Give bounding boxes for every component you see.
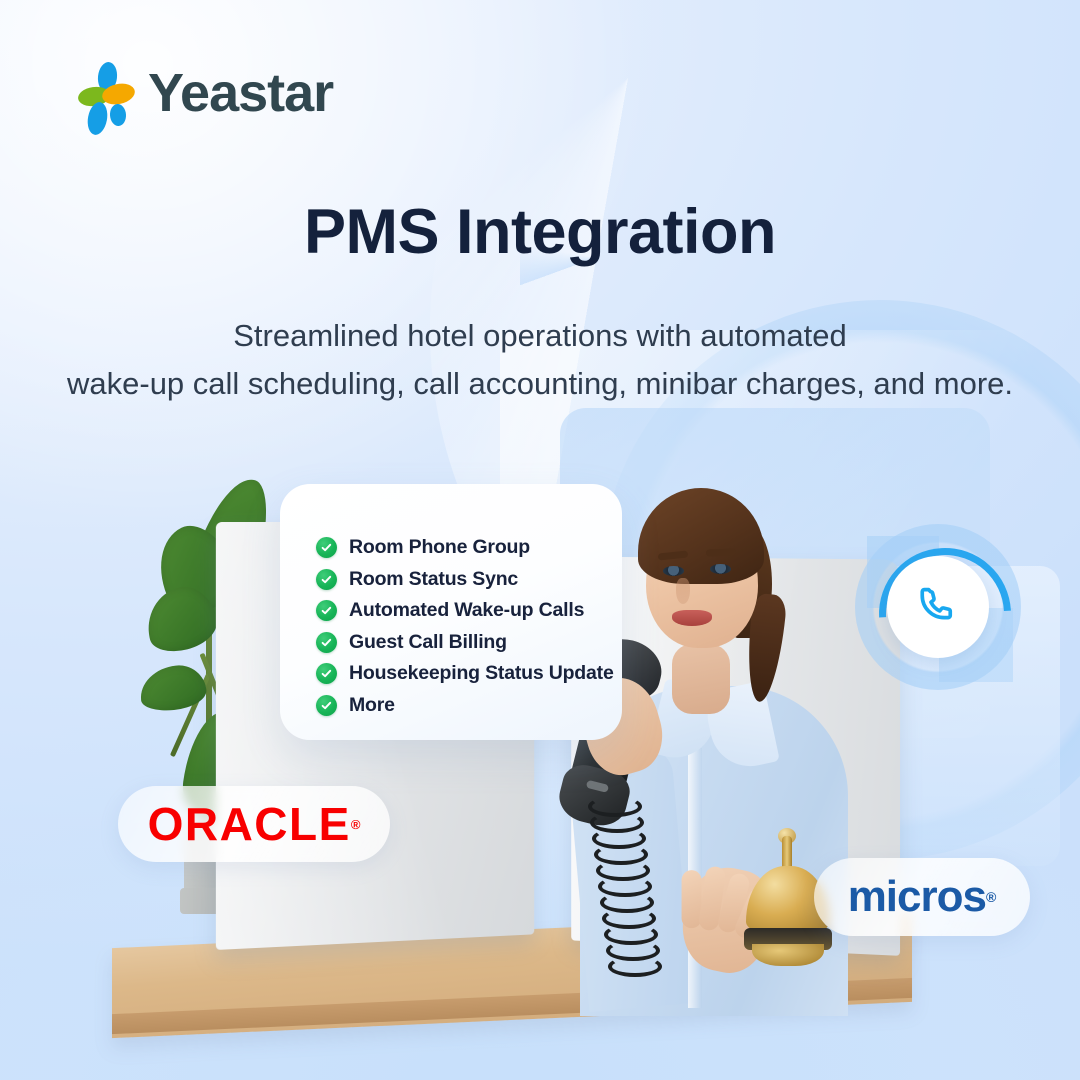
- check-circle-icon: [316, 695, 337, 716]
- check-circle-icon: [316, 569, 337, 590]
- oracle-logo-text: ORACLE: [148, 797, 351, 851]
- check-circle-icon: [316, 663, 337, 684]
- list-item-label: Guest Call Billing: [349, 631, 507, 654]
- subtitle-line-2: wake-up call scheduling, call accounting…: [0, 360, 1080, 408]
- logo-wordmark: Yeastar: [148, 66, 333, 120]
- person-neck: [672, 644, 730, 714]
- person-mouth: [672, 610, 712, 626]
- micros-badge[interactable]: micros®: [814, 858, 1030, 936]
- subtitle-line-1: Streamlined hotel operations with automa…: [0, 312, 1080, 360]
- call-badge[interactable]: [843, 512, 1033, 702]
- person-eye-left: [663, 566, 684, 576]
- list-item[interactable]: Guest Call Billing: [316, 627, 636, 659]
- page-title: PMS Integration: [0, 196, 1080, 268]
- list-item[interactable]: More: [316, 690, 636, 722]
- check-circle-icon: [316, 537, 337, 558]
- phone-handset-icon: [917, 584, 959, 631]
- telephone-cord: [588, 796, 642, 1006]
- logo-petal-bottom-center: [109, 103, 126, 126]
- poster-canvas: Yeastar PMS Integration Streamlined hote…: [0, 0, 1080, 1080]
- check-circle-icon: [316, 600, 337, 621]
- person-eyebrow-right: [706, 548, 736, 556]
- yeastar-logo[interactable]: Yeastar: [78, 62, 333, 124]
- list-item-label: More: [349, 694, 395, 717]
- person-hair: [638, 488, 764, 584]
- micros-logo-text: micros: [848, 872, 986, 922]
- page-subtitle: Streamlined hotel operations with automa…: [0, 312, 1080, 407]
- list-item-label: Housekeeping Status Update: [349, 662, 614, 685]
- check-circle-icon: [316, 632, 337, 653]
- micros-registered-mark: ®: [986, 889, 996, 905]
- list-item[interactable]: Room Phone Group: [316, 532, 636, 564]
- feature-list: Room Phone Group Room Status Sync Automa…: [316, 532, 636, 721]
- list-item-label: Room Phone Group: [349, 536, 530, 559]
- list-item[interactable]: Room Status Sync: [316, 564, 636, 596]
- list-item-label: Automated Wake-up Calls: [349, 599, 584, 622]
- list-item[interactable]: Automated Wake-up Calls: [316, 595, 636, 627]
- yeastar-flower-icon: [78, 62, 134, 124]
- list-item[interactable]: Housekeeping Status Update: [316, 658, 636, 690]
- oracle-badge[interactable]: ORACLE®: [118, 786, 390, 862]
- phone-icon-circle: [887, 556, 989, 658]
- list-item-label: Room Status Sync: [349, 568, 518, 591]
- person-nose: [676, 578, 690, 604]
- oracle-registered-mark: ®: [351, 817, 361, 832]
- person-eye-right: [710, 564, 731, 574]
